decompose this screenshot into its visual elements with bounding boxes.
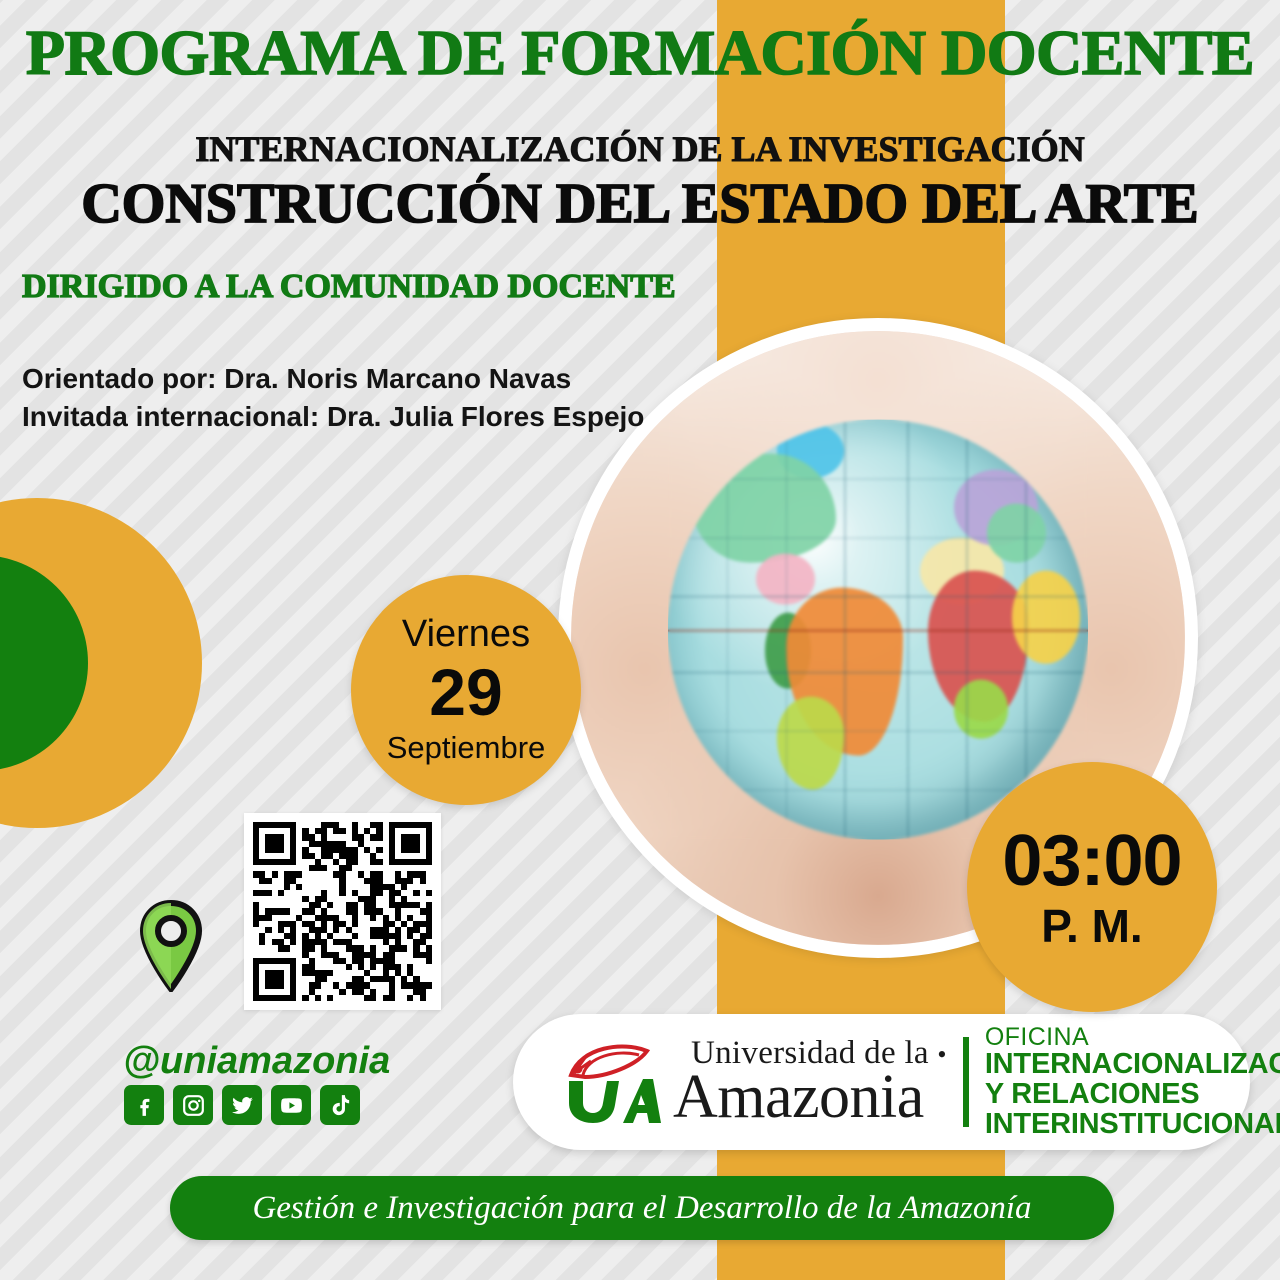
time-meridiem: P. M. [1041, 900, 1142, 952]
instagram-icon[interactable] [173, 1085, 213, 1125]
globe-sphere [668, 420, 1088, 840]
ua-logo-icon [561, 1037, 667, 1127]
university-name: Universidad de la • Amazonia [673, 1037, 947, 1128]
presenter-orientador: Orientado por: Dra. Noris Marcano Navas [22, 360, 644, 398]
time-hour: 03:00 [1002, 822, 1181, 900]
university-name-dot: • [937, 1040, 946, 1069]
office-name: OFICINA INTERNACIONALIZACIÓN Y RELACIONE… [985, 1025, 1280, 1139]
footer-tagline: Gestión e Investigación para el Desarrol… [170, 1176, 1114, 1240]
facebook-icon[interactable] [124, 1085, 164, 1125]
youtube-icon[interactable] [271, 1085, 311, 1125]
subtitle-session: CONSTRUCCIÓN DEL ESTADO DEL ARTE [0, 172, 1280, 236]
social-icons-row [124, 1085, 360, 1125]
date-month: Septiembre [387, 728, 546, 768]
office-label: OFICINA [985, 1025, 1280, 1051]
qr-code-matrix [253, 822, 432, 1001]
social-handle[interactable]: @uniamazonia [123, 1040, 390, 1083]
time-badge: 03:00 P. M. [967, 762, 1217, 1012]
subtitle-topic: INTERNACIONALIZACIÓN DE LA INVESTIGACIÓN [0, 128, 1280, 170]
qr-code[interactable] [244, 813, 441, 1010]
date-day-number: 29 [429, 656, 502, 728]
office-line-1: INTERNACIONALIZACIÓN [985, 1050, 1280, 1080]
page-title: PROGRAMA DE FORMACIÓN DOCENTE [0, 16, 1280, 90]
university-logo-panel: Universidad de la • Amazonia OFICINA INT… [513, 1014, 1250, 1150]
date-day-of-week: Viernes [402, 612, 530, 656]
office-line-3: INTERINSTITUCIONALES [985, 1110, 1280, 1140]
audience-label: DIRIGIDO A LA COMUNIDAD DOCENTE [22, 268, 676, 306]
twitter-icon[interactable] [222, 1085, 262, 1125]
logo-divider [963, 1037, 969, 1127]
poster-root: PROGRAMA DE FORMACIÓN DOCENTE INTERNACIO… [0, 0, 1280, 1280]
office-line-2: Y RELACIONES [985, 1080, 1280, 1110]
tiktok-icon[interactable] [320, 1085, 360, 1125]
location-pin-icon [138, 900, 204, 992]
university-name-line2: Amazonia [673, 1066, 947, 1128]
date-badge: Viernes 29 Septiembre [351, 575, 581, 805]
presenters-block: Orientado por: Dra. Noris Marcano Navas … [22, 360, 644, 436]
presenter-invitada: Invitada internacional: Dra. Julia Flore… [22, 398, 644, 436]
